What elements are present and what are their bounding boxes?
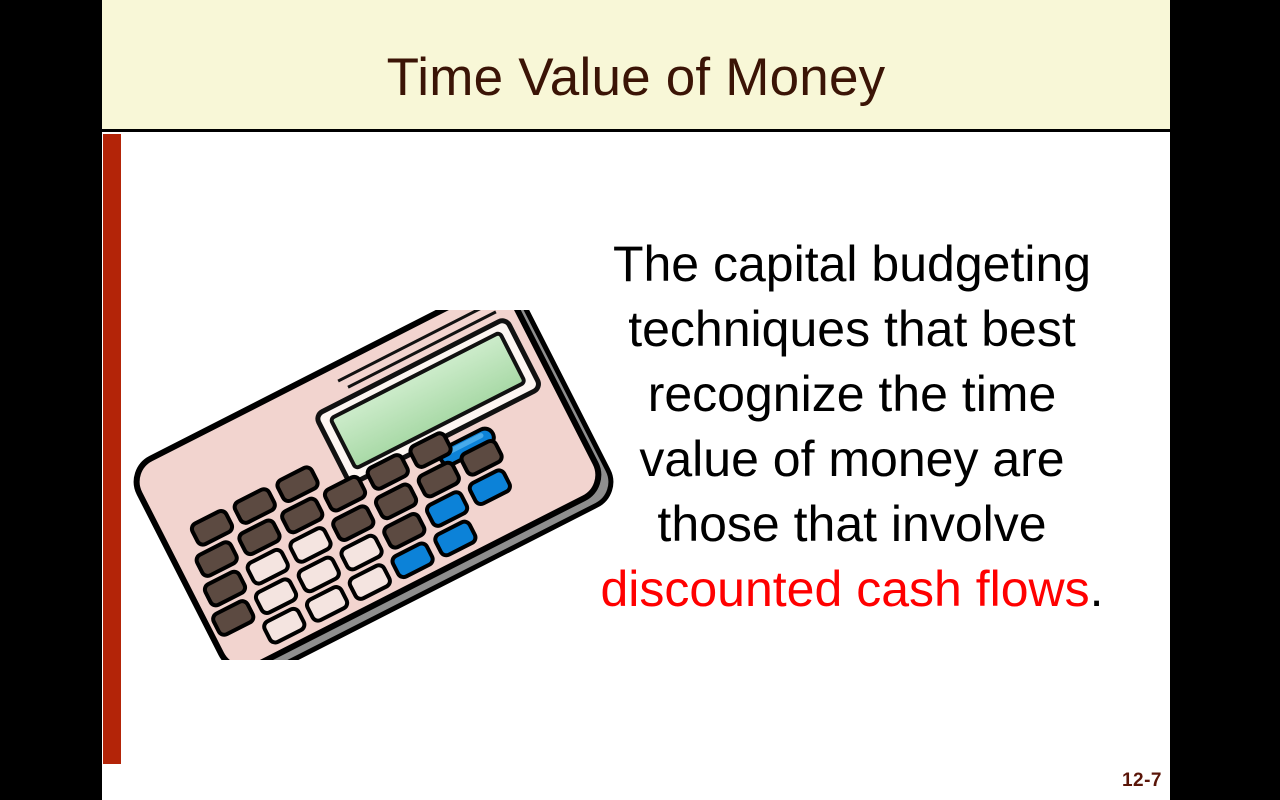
body-line-6: discounted cash flows. <box>572 557 1132 622</box>
calculator-illustration <box>122 310 622 660</box>
slide-number: 12-7 <box>1122 770 1162 792</box>
calculator-body <box>128 310 608 660</box>
highlight-phrase: discounted cash flows <box>600 561 1089 617</box>
slide-body-text: The capital budgeting techniques that be… <box>572 232 1132 622</box>
body-line-3: recognize the time <box>572 362 1132 427</box>
body-line-5: those that involve <box>572 492 1132 557</box>
body-line-4: value of money are <box>572 427 1132 492</box>
left-accent-bar <box>103 134 121 764</box>
body-line-1: The capital budgeting <box>572 232 1132 297</box>
slide-title-band: Time Value of Money <box>102 0 1170 132</box>
body-line-2: techniques that best <box>572 297 1132 362</box>
page-title: Time Value of Money <box>102 50 1170 106</box>
presentation-slide: Time Value of Money <box>0 0 1280 800</box>
slide-canvas: Time Value of Money <box>102 0 1170 800</box>
trailing-period: . <box>1090 561 1104 617</box>
